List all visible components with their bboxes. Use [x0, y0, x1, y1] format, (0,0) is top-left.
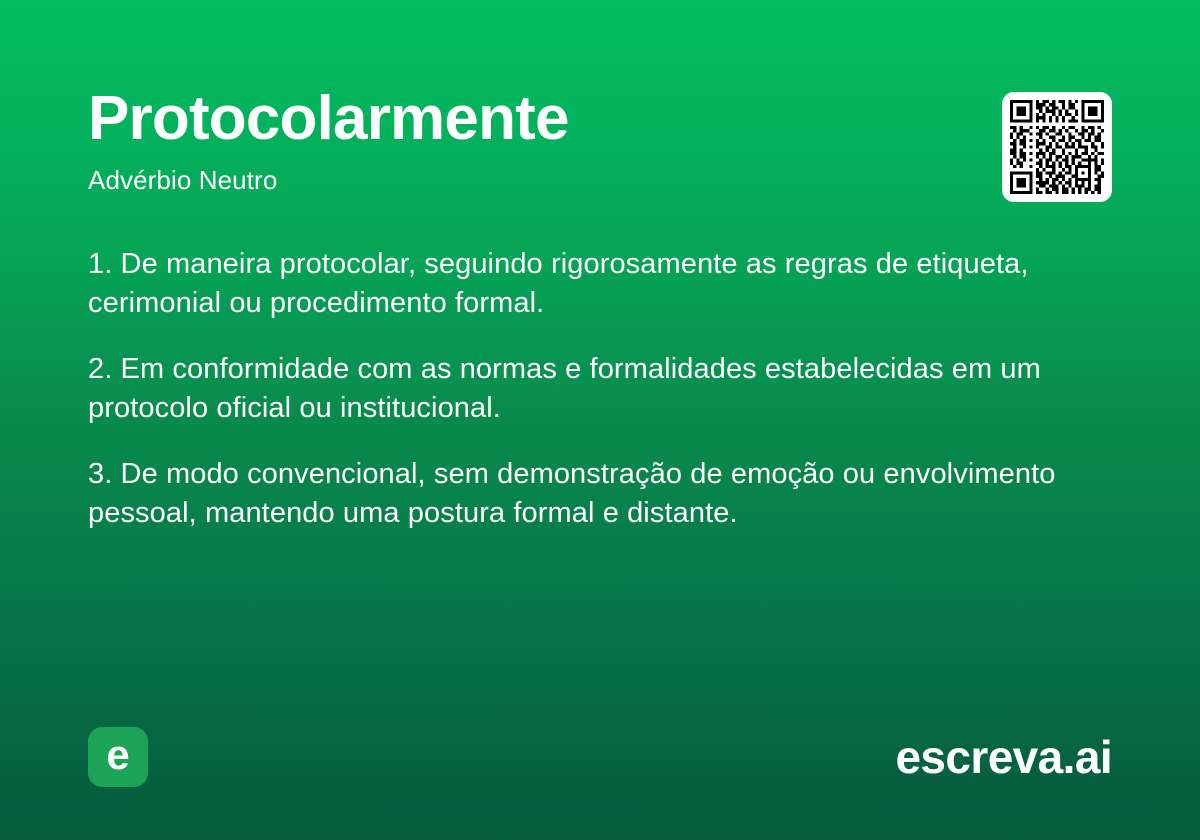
card-header: Protocolarmente Advérbio Neutro	[88, 88, 1112, 202]
definition-item-3: 3. De modo convencional, sem demonstraçã…	[88, 455, 1118, 534]
word-heading-group: Protocolarmente Advérbio Neutro	[88, 88, 569, 195]
definition-item-2: 2. Em conformidade com as normas e forma…	[88, 350, 1118, 429]
definition-item-1: 1. De maneira protocolar, seguindo rigor…	[88, 245, 1118, 324]
escreva-logo-icon[interactable]: e	[88, 727, 148, 787]
dictionary-card: Protocolarmente Advérbio Neutro	[0, 0, 1200, 840]
qr-code-container[interactable]	[1002, 92, 1112, 202]
definition-list: 1. De maneira protocolar, seguindo rigor…	[88, 245, 1118, 534]
qr-code-icon	[1010, 100, 1104, 194]
page-title: Protocolarmente	[88, 88, 569, 150]
card-footer: e escreva.ai	[88, 726, 1112, 788]
word-class-label: Advérbio Neutro	[88, 166, 569, 195]
brand-wordmark: escreva.ai	[895, 734, 1112, 780]
